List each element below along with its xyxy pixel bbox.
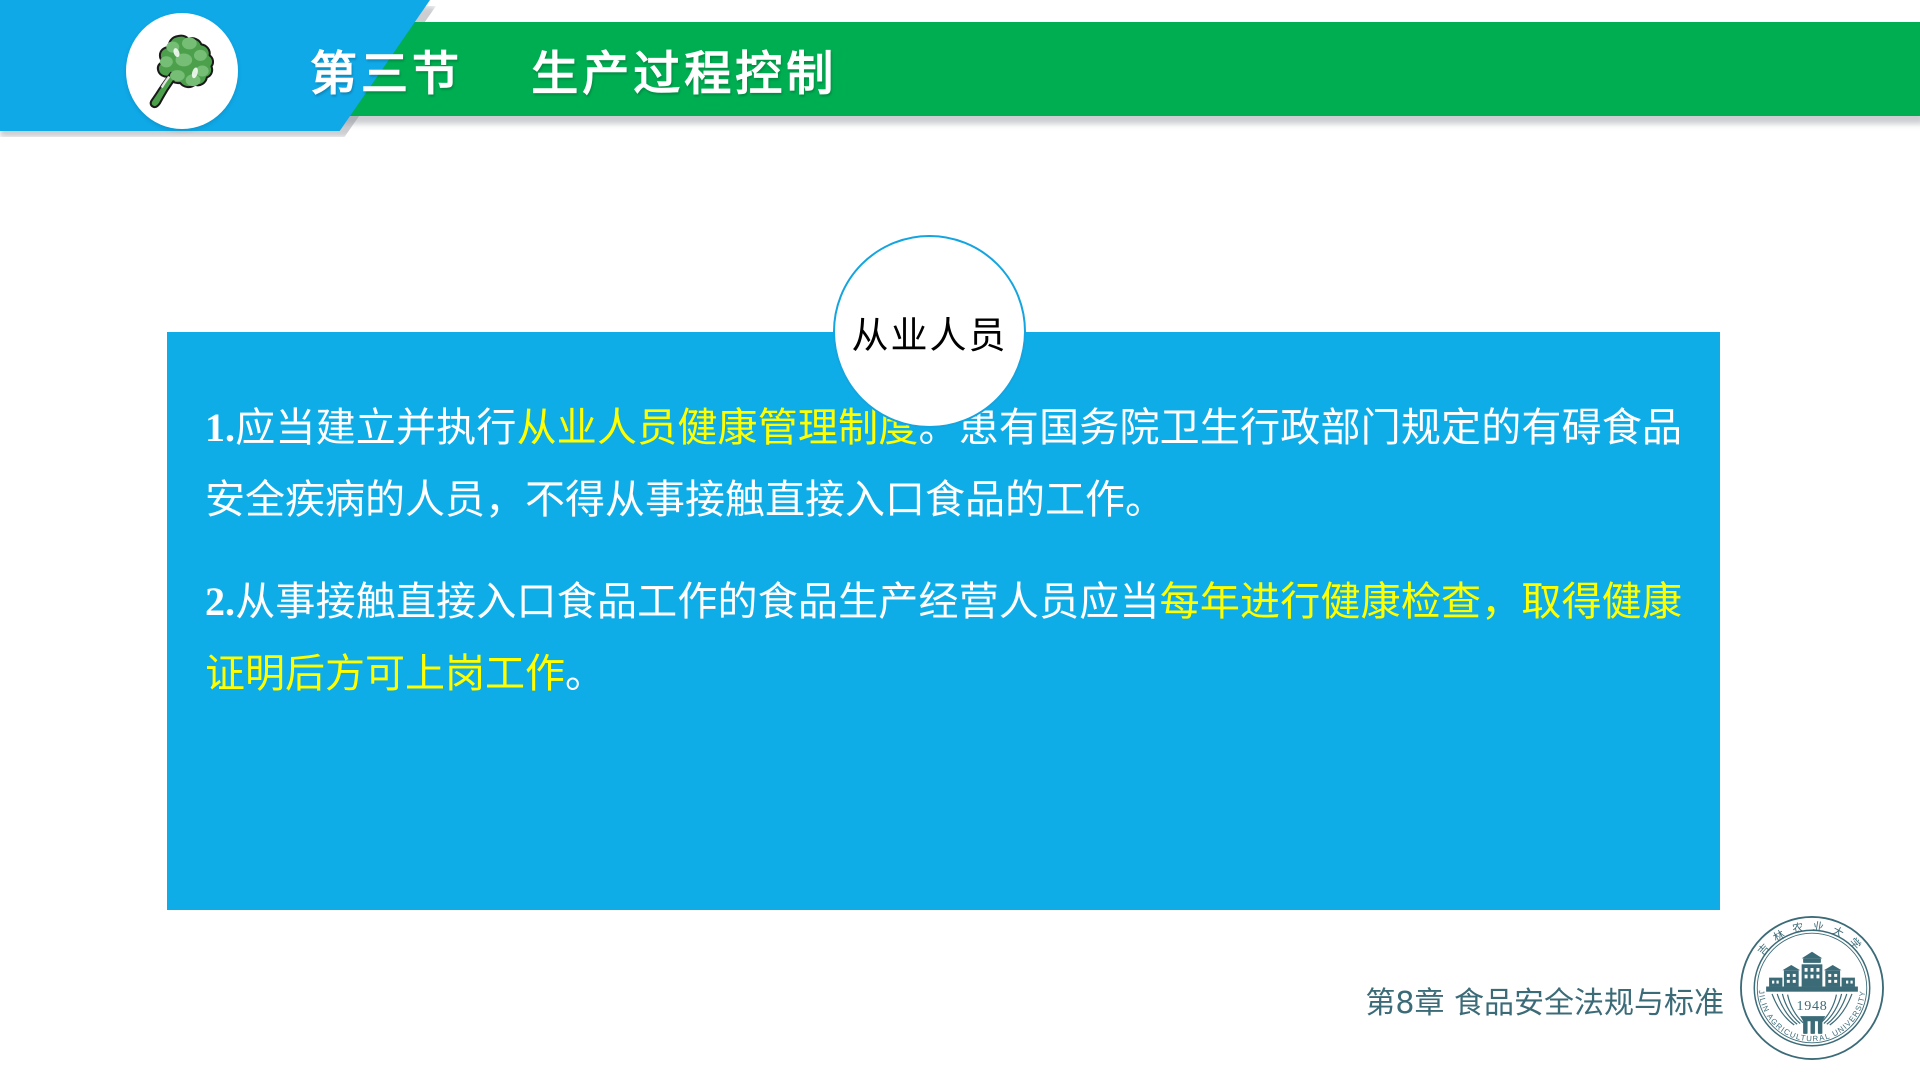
broccoli-icon	[126, 13, 238, 129]
section-bubble: 从业人员	[833, 235, 1026, 428]
paragraph-1-number: 1.	[205, 405, 235, 450]
slide-footer: 第8章 食品安全法规与标准 吉林农业大学 JILIN AGRICULTURAL …	[0, 920, 1920, 1080]
jilin-agricultural-university-seal-icon: 吉林农业大学 JILIN AGRICULTURAL UNIVERSITY	[1738, 914, 1886, 1062]
svg-text:1948: 1948	[1796, 998, 1827, 1014]
paragraph-2-run-1: 从事接触直接入口食品工作的食品生产经营人员应当	[235, 579, 1160, 625]
paragraph-1-run-1: 应当建立并执行	[235, 405, 517, 451]
footer-chapter-label: 第8章 食品安全法规与标准	[1365, 978, 1724, 1022]
page-title: 第三节 生产过程控制	[310, 22, 1510, 116]
paragraph-2-run-3: 。	[565, 651, 605, 697]
section-bubble-label: 从业人员	[852, 305, 1008, 359]
content-paragraph-2: 2.从事接触直接入口食品工作的食品生产经营人员应当每年进行健康检查，取得健康证明…	[205, 566, 1682, 710]
paragraph-2-number: 2.	[205, 579, 235, 624]
slide-header: 第三节 生产过程控制	[0, 0, 1920, 170]
paragraph-1-run-2-highlight: 从业人员健康管理制度	[517, 405, 919, 451]
